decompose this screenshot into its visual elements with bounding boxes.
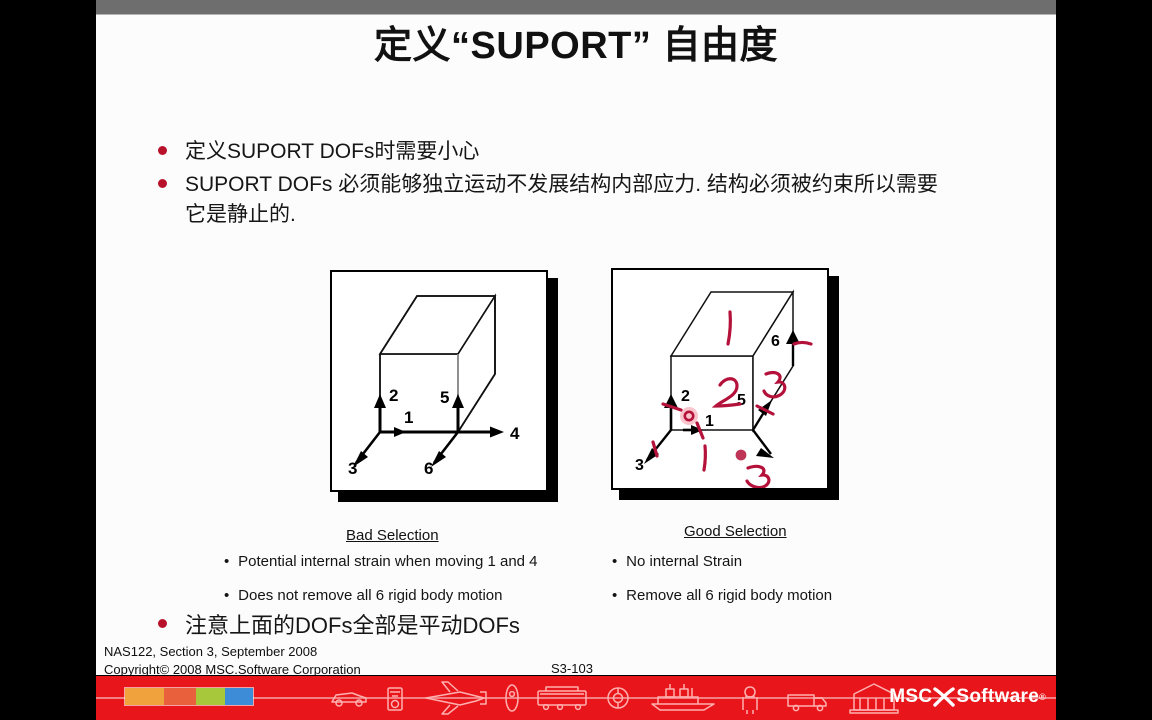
bullet-item-1: 定义SUPORT DOFs时需要小心: [158, 137, 958, 167]
wheel-icon: [608, 688, 628, 708]
bullet-text-2: SUPORT DOFs 必须能够独立运动不发展结构内部应力. 结构必须被约束所以…: [185, 170, 948, 231]
top-gray-bar: [96, 0, 1056, 15]
slide-content-area: 定义“SUPORT” 自由度 定义SUPORT DOFs时需要小心 SUPORT…: [96, 15, 1056, 675]
footer-page-number: S3-103: [551, 661, 593, 675]
dof-label-1: 1: [705, 413, 714, 430]
sub-bullet-text: Remove all 6 rigid body motion: [626, 587, 832, 604]
ship-icon: [652, 684, 714, 710]
airplane-icon: [426, 682, 486, 714]
cursor-highlight: [680, 407, 698, 425]
caption-good-selection: Good Selection: [684, 523, 787, 540]
train-icon: [538, 687, 586, 709]
sub-bullet-text: Potential internal strain when moving 1 …: [238, 553, 537, 570]
dof-label-2: 2: [681, 388, 690, 405]
sub-bullet-dot-icon: •: [224, 553, 234, 570]
banner-icon-strip: [326, 680, 956, 716]
dof-label-6: 6: [424, 459, 433, 478]
logo-trademark: ®: [1039, 692, 1046, 702]
footer-line-2: Copyright© 2008 MSC.Software Corporation: [104, 661, 804, 675]
sub-bullet-text: No internal Strain: [626, 553, 742, 570]
bullet-dot-icon: [158, 146, 167, 155]
sub-bullet-bad-1: • Potential internal strain when moving …: [224, 553, 538, 570]
sub-bullet-dot-icon: •: [612, 587, 622, 604]
sub-bullet-dot-icon: •: [612, 553, 622, 570]
engine-icon: [388, 688, 402, 710]
banner-colorbar: [124, 687, 254, 706]
cube-diagram-bad: 2 1 3 4 5 6: [332, 272, 546, 490]
dof-label-3: 3: [635, 457, 644, 474]
figure-good-selection: 2 1 3 5 6: [611, 268, 839, 500]
annotation-dot-icon: [736, 450, 747, 461]
dof-label-5: 5: [440, 388, 449, 407]
dof-label-2: 2: [389, 386, 398, 405]
figure-bad-selection: 2 1 3 4 5 6: [330, 270, 558, 502]
truck-icon: [788, 695, 826, 711]
dof-label-4: 4: [510, 424, 520, 443]
cube-diagram-good: 2 1 3 5 6: [613, 270, 827, 488]
bullet-text-3: 注意上面的DOFs全部是平动DOFs: [185, 610, 520, 642]
sub-bullet-dot-icon: •: [224, 587, 234, 604]
footer: NAS122, Section 3, September 2008 Copyri…: [104, 643, 804, 675]
rocket-icon: [506, 685, 518, 711]
bullet-dot-icon: [158, 179, 167, 188]
slide-viewport: 定义“SUPORT” 自由度 定义SUPORT DOFs时需要小心 SUPORT…: [0, 0, 1152, 720]
bullet-item-3: 注意上面的DOFs全部是平动DOFs: [158, 610, 858, 642]
dof-label-5: 5: [737, 392, 746, 409]
colorbar-segment-2: [164, 688, 196, 705]
logo-x-icon: [933, 686, 955, 708]
sub-bullet-good-1: • No internal Strain: [612, 553, 742, 570]
car-icon: [332, 693, 366, 706]
person-icon: [743, 687, 757, 714]
sub-bullet-good-2: • Remove all 6 rigid body motion: [612, 587, 832, 604]
colorbar-segment-3: [196, 688, 224, 705]
dof-label-1: 1: [404, 408, 413, 427]
colorbar-segment-4: [225, 688, 253, 705]
sub-bullet-bad-2: • Does not remove all 6 rigid body motio…: [224, 587, 502, 604]
bullet-dot-icon: [158, 619, 167, 628]
colorbar-segment-1: [125, 688, 164, 705]
bullet-text-1: 定义SUPORT DOFs时需要小心: [185, 137, 479, 167]
bullet-item-2: SUPORT DOFs 必须能够独立运动不发展结构内部应力. 结构必须被约束所以…: [158, 170, 948, 231]
logo-text-software: Software: [956, 686, 1039, 708]
caption-bad-selection: Bad Selection: [346, 527, 439, 544]
logo-text-msc: MSC: [889, 686, 932, 708]
footer-line-1: NAS122, Section 3, September 2008: [104, 643, 804, 661]
figure-frame: 2 1 3 4 5 6: [330, 270, 548, 492]
dof-label-3: 3: [348, 459, 357, 478]
brand-banner: MSC Software ®: [96, 676, 1056, 720]
msc-software-logo: MSC Software ®: [889, 686, 1046, 708]
figure-frame: 2 1 3 5 6: [611, 268, 829, 490]
dof-label-6: 6: [771, 333, 780, 350]
page-title: 定义“SUPORT” 自由度: [96, 25, 1056, 69]
sub-bullet-text: Does not remove all 6 rigid body motion: [238, 587, 502, 604]
